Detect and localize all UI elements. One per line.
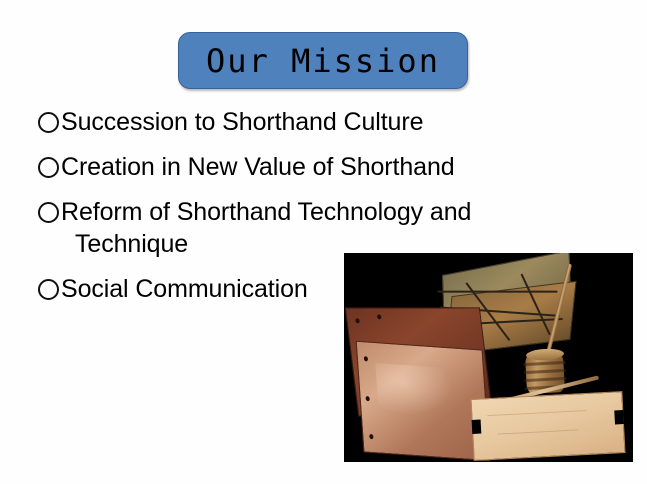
hollow-circle-icon [38,279,59,300]
list-item-label: Creation in New Value of Shorthand [61,151,455,183]
hollow-circle-icon [38,157,59,178]
hollow-circle-icon [38,112,59,133]
wooden-plaque [470,391,625,461]
slide-canvas: Our Mission Succession to Shorthand Cult… [0,0,647,484]
hollow-circle-icon [38,202,59,223]
page-title: Our Mission [206,45,440,77]
list-item: Reform of Shorthand Technology andTechni… [38,196,508,260]
list-item: Creation in New Value of Shorthand [38,151,508,183]
list-item-label: Social Communication [61,273,308,305]
title-box: Our Mission [178,32,468,89]
list-item-label: Reform of Shorthand Technology andTechni… [61,196,471,260]
copper-sheen [376,363,454,419]
photo-shorthand-implements [344,253,633,462]
list-item: Succession to Shorthand Culture [38,106,508,138]
list-item-label: Succession to Shorthand Culture [61,106,423,138]
photo-scene [344,253,633,462]
